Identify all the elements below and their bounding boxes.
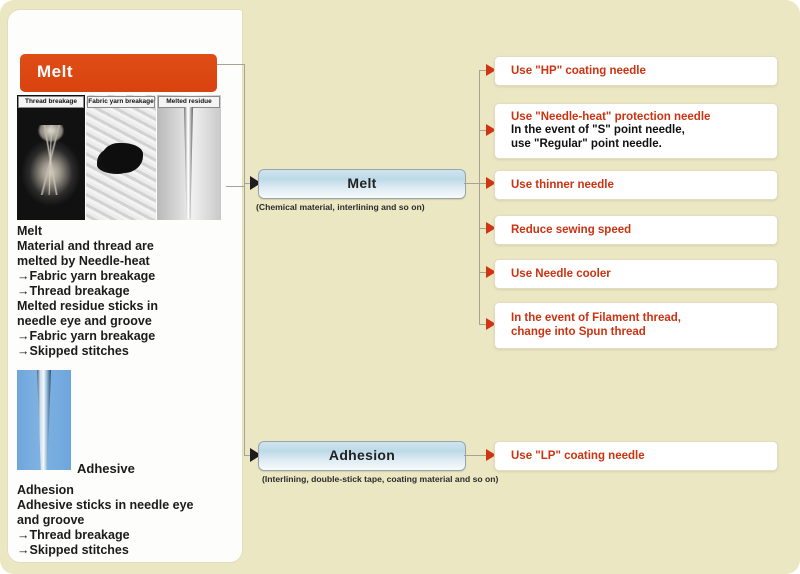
solution-primary-text: Use Needle cooler xyxy=(511,267,769,281)
residue-blob xyxy=(186,147,191,181)
solution-box-lp-coating-needle[interactable]: Use "LP" coating needle xyxy=(494,441,778,471)
melt-header-banner: Melt xyxy=(20,54,217,92)
solution-primary-text: Use "HP" coating needle xyxy=(511,64,769,78)
melt-header-label: Melt xyxy=(37,62,73,82)
solution-box-reduce-sewing-speed[interactable]: Reduce sewing speed xyxy=(494,215,778,245)
solution-primary-text: Use "LP" coating needle xyxy=(511,449,769,463)
solution-primary-text: In the event of Filament thread, change … xyxy=(511,311,769,339)
category-node-melt-subtitle: (Chemical material, interlining and so o… xyxy=(256,202,425,212)
solution-box-needle-cooler[interactable]: Use Needle cooler xyxy=(494,259,778,289)
symptom-photo-strip: Thread breakage Fabric yarn breakage Mel… xyxy=(17,95,222,220)
connector-melt-solutions-trunk xyxy=(479,70,480,325)
solution-primary-text: Use thinner needle xyxy=(511,178,769,192)
solution-secondary-text: In the event of "S" point needle, use "R… xyxy=(511,124,769,151)
connector-left-stub-tick xyxy=(226,186,227,187)
solution-box-filament-to-spun-thread[interactable]: In the event of Filament thread, change … xyxy=(494,302,778,349)
melt-description-text: Melt Material and thread are melted by N… xyxy=(17,224,235,359)
photo-caption: Melted residue xyxy=(158,96,220,108)
photo-adhesive-needle xyxy=(17,370,71,470)
connector-header-down xyxy=(244,64,245,187)
solution-primary-text: Reduce sewing speed xyxy=(511,223,769,237)
photo-melted-residue: Melted residue xyxy=(157,95,221,220)
connector-left-stub xyxy=(226,186,245,187)
photo-caption: Thread breakage xyxy=(18,96,84,108)
photo-caption: Fabric yarn breakage xyxy=(87,96,155,108)
category-node-adhesion-subtitle: (Interlining, double-stick tape, coating… xyxy=(262,474,498,484)
solution-box-hp-coating-needle[interactable]: Use "HP" coating needle xyxy=(494,56,778,86)
photo-fabric-yarn-breakage: Fabric yarn breakage xyxy=(86,95,156,220)
connector-header-out xyxy=(217,64,245,65)
category-node-melt[interactable]: Melt xyxy=(258,169,466,199)
diagram-canvas: Melt Thread breakage Fabric yarn breakag… xyxy=(0,0,800,574)
category-node-adhesion-label: Adhesion xyxy=(259,447,465,463)
connector-main-trunk xyxy=(244,183,245,455)
adhesion-description-text: Adhesion Adhesive sticks in needle eye a… xyxy=(17,483,239,558)
solution-primary-text: Use "Needle-heat" protection needle xyxy=(511,110,769,124)
photo-thread-breakage: Thread breakage xyxy=(17,95,85,220)
adhesive-photo-label: Adhesive xyxy=(77,461,135,476)
solution-box-thinner-needle[interactable]: Use thinner needle xyxy=(494,170,778,200)
solution-box-needle-heat-protection[interactable]: Use "Needle-heat" protection needle In t… xyxy=(494,103,778,159)
connector-melt-node-out xyxy=(464,183,480,184)
category-node-melt-label: Melt xyxy=(259,175,465,191)
category-node-adhesion[interactable]: Adhesion xyxy=(258,441,466,471)
